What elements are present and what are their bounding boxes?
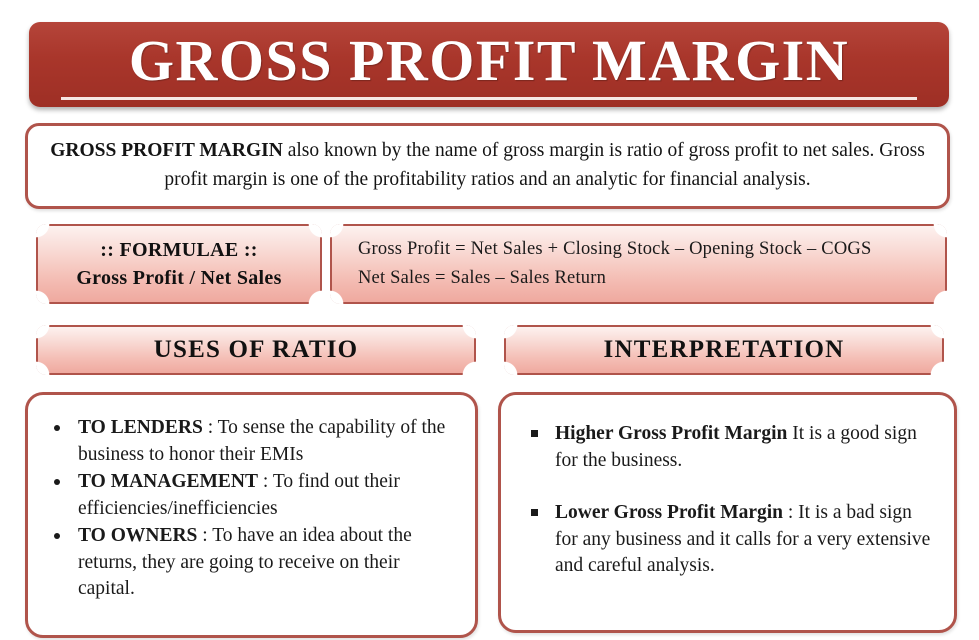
list-item-term: TO MANAGEMENT <box>78 471 258 492</box>
content-box-uses-of-ratio: TO LENDERS : To sense the capability of … <box>25 392 478 638</box>
interpretation-bullet-list: Higher Gross Profit Margin It is a good … <box>517 421 936 580</box>
section-header-label: USES OF RATIO <box>154 336 359 364</box>
formula-equation-net-sales: Net Sales = Sales – Sales Return <box>358 264 606 293</box>
title-banner: GROSS PROFIT MARGIN <box>29 22 949 107</box>
section-header-label: INTERPRETATION <box>604 336 845 364</box>
list-item: Lower Gross Profit Margin : It is a bad … <box>517 500 936 580</box>
formula-label-line-2: Gross Profit / Net Sales <box>76 264 281 292</box>
section-header-interpretation: INTERPRETATION <box>504 325 944 375</box>
section-header-uses-of-ratio: USES OF RATIO <box>36 325 476 375</box>
list-item-term: TO OWNERS <box>78 525 197 546</box>
list-item-term: Lower Gross Profit Margin <box>555 502 783 523</box>
formula-equations-plaque: Gross Profit = Net Sales + Closing Stock… <box>330 224 947 304</box>
page-title: GROSS PROFIT MARGIN <box>129 32 849 90</box>
formula-label-line-1: :: FORMULAE :: <box>100 236 258 264</box>
formula-label-plaque: :: FORMULAE :: Gross Profit / Net Sales <box>36 224 322 304</box>
list-item: TO LENDERS : To sense the capability of … <box>40 415 461 468</box>
description-box: GROSS PROFIT MARGIN also known by the na… <box>25 123 950 209</box>
list-item-term: TO LENDERS <box>78 417 203 438</box>
title-underline-rule <box>61 97 917 100</box>
list-item: TO MANAGEMENT : To find out their effici… <box>40 469 461 522</box>
content-box-interpretation: Higher Gross Profit Margin It is a good … <box>498 392 957 633</box>
formula-equation-gross-profit: Gross Profit = Net Sales + Closing Stock… <box>358 235 871 264</box>
list-item: Higher Gross Profit Margin It is a good … <box>517 421 936 474</box>
uses-bullet-list: TO LENDERS : To sense the capability of … <box>40 415 461 603</box>
list-item-term: Higher Gross Profit Margin <box>555 423 787 444</box>
description-text: GROSS PROFIT MARGIN also known by the na… <box>44 137 931 195</box>
list-item: TO OWNERS : To have an idea about the re… <box>40 523 461 603</box>
description-lead-term: GROSS PROFIT MARGIN <box>50 140 283 161</box>
